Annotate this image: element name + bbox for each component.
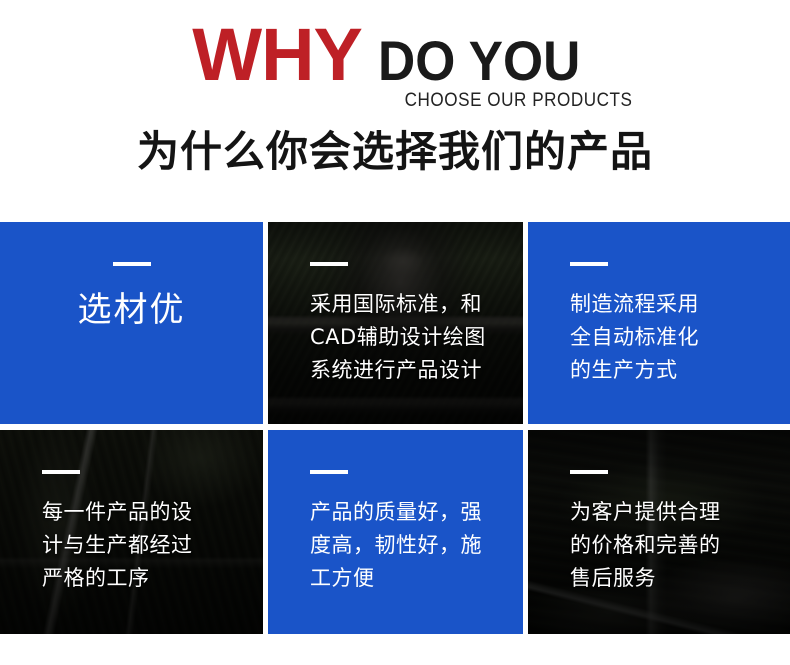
- subtitle-chinese: 为什么你会选择我们的产品: [0, 126, 790, 178]
- divider-dash-icon: [42, 470, 80, 474]
- feature-card-4-text: 每一件产品的设 计与生产都经过 严格的工序: [42, 496, 247, 595]
- feature-card-3-inner: 制造流程采用 全自动标准化 的生产方式: [528, 222, 790, 424]
- feature-card-2[interactable]: 采用国际标准，和 CAD辅助设计绘图 系统进行产品设计: [268, 222, 523, 424]
- divider-dash-icon: [570, 262, 608, 266]
- divider-dash-icon: [113, 262, 151, 266]
- divider-dash-icon: [310, 262, 348, 266]
- feature-card-2-inner: 采用国际标准，和 CAD辅助设计绘图 系统进行产品设计: [268, 222, 523, 424]
- feature-card-1-text: 选材优: [78, 288, 186, 332]
- promo-banner-page: WHY DO YOU CHOOSE OUR PRODUCTS 为什么你会选择我们…: [0, 0, 790, 665]
- divider-dash-icon: [310, 470, 348, 474]
- feature-card-5[interactable]: 产品的质量好，强 度高，韧性好，施 工方便: [268, 430, 523, 634]
- headline-row: WHY DO YOU: [0, 18, 790, 90]
- feature-card-6-inner: 为客户提供合理 的价格和完善的 售后服务: [528, 430, 790, 634]
- subtitle-english-wrap: CHOOSE OUR PRODUCTS: [0, 90, 790, 112]
- headline-do-you: DO YOU: [378, 33, 580, 89]
- feature-card-grid: 选材优 采用国际标准，和 CAD辅助设计绘图 系统进行产品设计 制造流程采用 全…: [0, 222, 790, 634]
- feature-card-6[interactable]: 为客户提供合理 的价格和完善的 售后服务: [528, 430, 790, 634]
- feature-card-1-inner: 选材优: [0, 222, 263, 424]
- feature-card-3[interactable]: 制造流程采用 全自动标准化 的生产方式: [528, 222, 790, 424]
- feature-card-4[interactable]: 每一件产品的设 计与生产都经过 严格的工序: [0, 430, 263, 634]
- headline-why: WHY: [192, 18, 362, 92]
- feature-card-2-text: 采用国际标准，和 CAD辅助设计绘图 系统进行产品设计: [310, 288, 507, 387]
- feature-card-3-text: 制造流程采用 全自动标准化 的生产方式: [570, 288, 779, 387]
- divider-dash-icon: [570, 470, 608, 474]
- feature-card-5-text: 产品的质量好，强 度高，韧性好，施 工方便: [310, 496, 507, 595]
- feature-card-4-inner: 每一件产品的设 计与生产都经过 严格的工序: [0, 430, 263, 634]
- feature-card-1[interactable]: 选材优: [0, 222, 263, 424]
- feature-card-6-text: 为客户提供合理 的价格和完善的 售后服务: [570, 496, 779, 595]
- subtitle-english: CHOOSE OUR PRODUCTS: [405, 90, 633, 112]
- page-header: WHY DO YOU CHOOSE OUR PRODUCTS 为什么你会选择我们…: [0, 0, 790, 222]
- feature-card-5-inner: 产品的质量好，强 度高，韧性好，施 工方便: [268, 430, 523, 634]
